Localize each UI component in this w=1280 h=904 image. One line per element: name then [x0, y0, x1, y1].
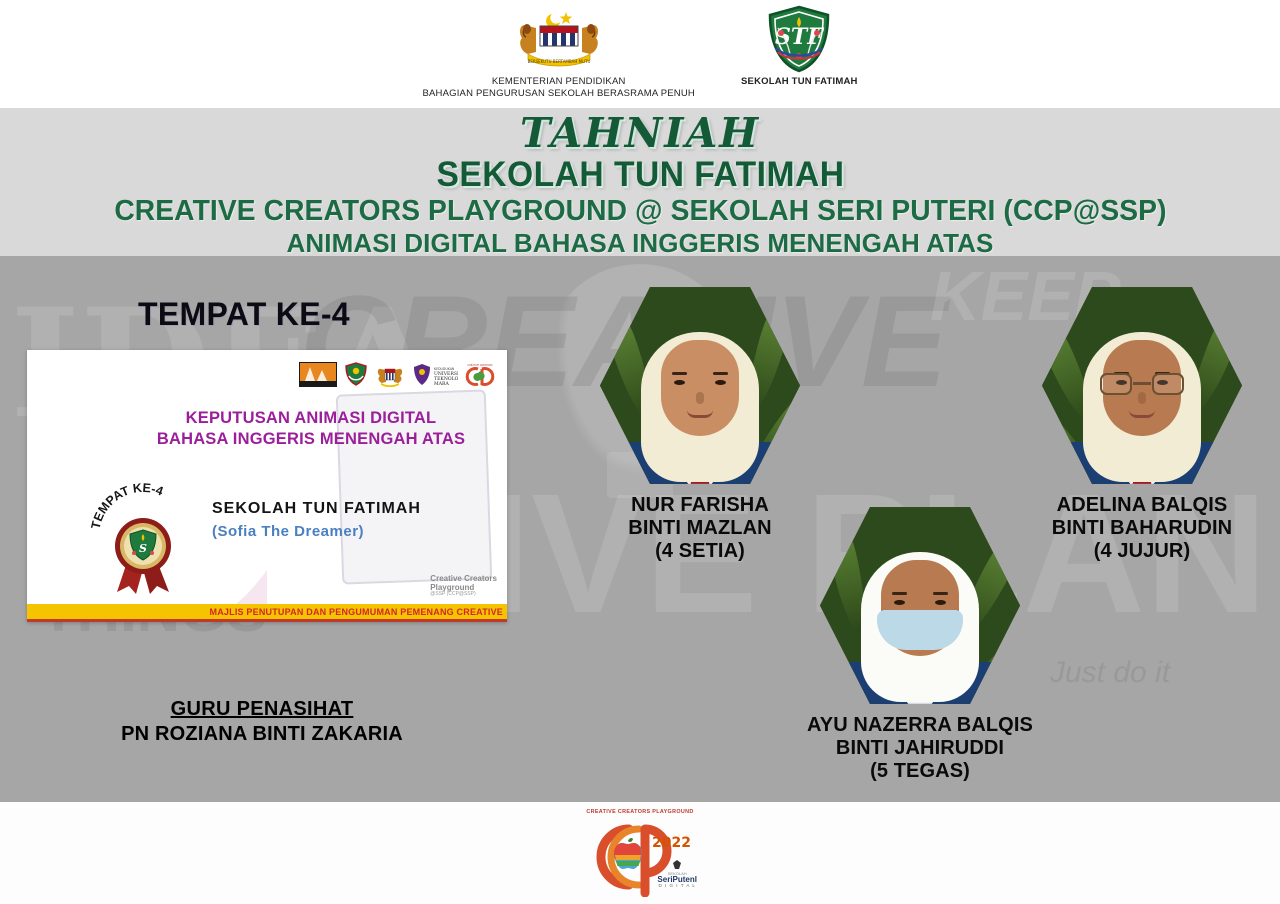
face-mask: [877, 610, 963, 650]
advisor-block: GURU PENASIHAT PN ROZIANA BINTI ZAKARIA: [92, 698, 432, 746]
partner-logos: KEDUDUKAN UNIVERSITI TEKNOLOGI MARA CREA…: [299, 362, 495, 387]
student-name-line-2: BINTI BAHARUDIN: [1027, 517, 1257, 540]
eyebrow: [933, 592, 948, 595]
student-name: NUR FARISHA BINTI MAZLAN (4 SETIA): [585, 494, 815, 562]
student-photo-hexagon: [600, 283, 800, 488]
malaysia-coat-of-arms-icon: BERSEKUTU BERTAMBAH MUTU: [514, 6, 604, 72]
certificate-heading-line-2: BAHASA INGGERIS MENENGAH ATAS: [123, 429, 499, 450]
watermark-text: Just do it: [1050, 656, 1170, 690]
certificate-card[interactable]: KEDUDUKAN UNIVERSITI TEKNOLOGI MARA CREA…: [27, 350, 507, 622]
title-banner: TAHNIAH SEKOLAH TUN FATIMAH CREATIVE CRE…: [0, 108, 1280, 256]
student-class: (5 TEGAS): [805, 760, 1035, 783]
face: [661, 340, 739, 436]
eye: [674, 380, 685, 385]
brand-line-3: @SSP (CCP@SSP): [430, 592, 497, 598]
sponsor-line-2: D I G I T A L: [657, 884, 697, 889]
student-name-line-2: BINTI JAHIRUDDI: [805, 737, 1035, 760]
student-name-line-1: AYU NAZERRA BALQIS: [805, 714, 1035, 737]
johor-state-crest-icon: [344, 362, 368, 387]
school-name-caption: SEKOLAH TUN FATIMAH: [741, 76, 858, 88]
eyebrow: [713, 372, 728, 375]
ministry-block: BERSEKUTU BERTAMBAH MUTU KEMENTERIAN PEN…: [422, 6, 695, 100]
bridge: [1133, 382, 1151, 385]
mouth: [687, 410, 713, 418]
banner-event-name: CREATIVE CREATORS PLAYGROUND @ SEKOLAH S…: [114, 194, 1166, 228]
school-block: STF SEKOLAH TUN FATIMAH: [741, 6, 858, 88]
student-photo-hexagon: [1042, 283, 1242, 488]
seriputeri-mark-icon: [671, 859, 683, 871]
svg-text:STF: STF: [775, 24, 824, 50]
student-card[interactable]: ADELINA BALQIS BINTI BAHARUDIN (4 JUJUR): [1027, 283, 1257, 562]
certificate-brand: Creative Creators Playground @SSP (CCP@S…: [430, 574, 497, 598]
eye: [894, 600, 905, 605]
student-class: (4 SETIA): [585, 540, 815, 563]
page-header: BERSEKUTU BERTAMBAH MUTU KEMENTERIAN PEN…: [0, 0, 1280, 108]
student-name-line-1: NUR FARISHA: [585, 494, 815, 517]
ministry-line-1: KEMENTERIAN PENDIDIKAN: [422, 76, 695, 88]
student-name: ADELINA BALQIS BINTI BAHARUDIN (4 JUJUR): [1027, 494, 1257, 562]
certificate-footer-text: MAJLIS PENUTUPAN DAN PENGUMUMAN PEMENANG…: [210, 607, 507, 617]
nose: [1138, 392, 1146, 404]
student-name-line-1: ADELINA BALQIS: [1027, 494, 1257, 517]
student-class: (4 JUJUR): [1027, 540, 1257, 563]
eyebrow: [672, 372, 687, 375]
uitm-logo-icon: KEDUDUKAN UNIVERSITI TEKNOLOGI MARA: [412, 362, 458, 387]
eyebrow: [892, 592, 907, 595]
eye: [715, 380, 726, 385]
advisor-name: PN ROZIANA BINTI ZAKARIA: [92, 723, 432, 746]
ministry-caption: KEMENTERIAN PENDIDIKAN BAHAGIAN PENGURUS…: [422, 76, 695, 100]
ccp-2022-logo: CREATIVE CREATORS PLAYGROUND 2022 SEKOLA…: [577, 809, 703, 897]
rosette-badge: TEMPAT KE-4 S: [89, 472, 197, 596]
svg-text:MARA: MARA: [434, 381, 449, 387]
mouth: [1129, 410, 1155, 418]
face: [1103, 340, 1181, 436]
lens: [1152, 373, 1184, 395]
nose: [696, 392, 704, 404]
page-footer: CREATIVE CREATORS PLAYGROUND 2022 SEKOLA…: [0, 802, 1280, 904]
brand-line-1: Creative Creators: [430, 574, 497, 583]
certificate-school-name: SEKOLAH TUN FATIMAH: [212, 500, 492, 518]
banner-category: ANIMASI DIGITAL BAHASA INGGERIS MENENGAH…: [287, 228, 994, 259]
svg-text:BERSEKUTU BERTAMBAH MUTU: BERSEKUTU BERTAMBAH MUTU: [527, 59, 590, 64]
certificate-heading: KEPUTUSAN ANIMASI DIGITAL BAHASA INGGERI…: [123, 408, 499, 449]
certificate-project-title: (Sofia The Dreamer): [212, 523, 492, 540]
ccp-logo-sponsor: SEKOLAH SeriPutenl D I G I T A L: [657, 859, 697, 889]
ccp-logo-year: 2022: [652, 835, 691, 851]
advisor-label: GURU PENASIHAT: [92, 698, 432, 721]
ministry-line-2: BAHAGIAN PENGURUSAN SEKOLAH BERASRAMA PE…: [422, 88, 695, 100]
stf-crest-icon: STF: [764, 6, 834, 72]
malaysia-coat-of-arms-icon: [375, 362, 405, 387]
banner-school-name: SEKOLAH TUN FATIMAH: [436, 155, 844, 194]
student-card[interactable]: AYU NAZERRA BALQIS BINTI JAHIRUDDI (5 TE…: [805, 503, 1035, 782]
student-name-line-2: BINTI MAZLAN: [585, 517, 815, 540]
eye: [935, 600, 946, 605]
student-card[interactable]: NUR FARISHA BINTI MAZLAN (4 SETIA): [585, 283, 815, 562]
certificate-heading-line-1: KEPUTUSAN ANIMASI DIGITAL: [123, 408, 499, 429]
svg-text:KEDUDUKAN: KEDUDUKAN: [434, 367, 455, 371]
student-photo-hexagon: [820, 503, 1020, 708]
ccp-logo-icon: CREATIVE CREATORS: [465, 362, 495, 387]
svg-text:CREATIVE CREATORS: CREATIVE CREATORS: [467, 364, 493, 367]
lens: [1100, 373, 1132, 395]
certificate-footer-strip: MAJLIS PENUTUPAN DAN PENGUMUMAN PEMENANG…: [27, 604, 507, 622]
student-name: AYU NAZERRA BALQIS BINTI JAHIRUDDI (5 TE…: [805, 714, 1035, 782]
congratulations-title: TAHNIAH: [520, 112, 760, 155]
svg-text:S: S: [139, 542, 147, 555]
placement-title: TEMPAT KE-4: [138, 296, 350, 333]
sponsor-orange-logo-icon: [299, 362, 337, 387]
